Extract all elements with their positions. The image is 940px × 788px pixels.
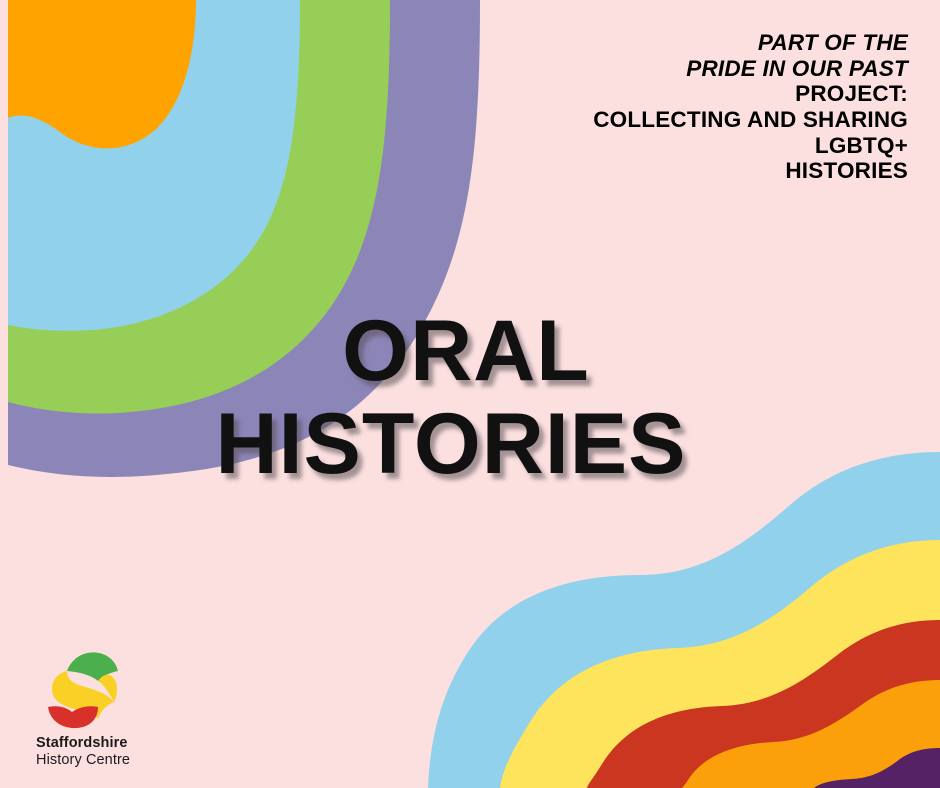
logo-block: Staffordshire History Centre	[36, 647, 216, 770]
logo-line-history-centre: History Centre	[36, 752, 216, 770]
header-line-2: PRIDE IN OUR PAST	[438, 56, 908, 82]
logo-red-arc	[48, 706, 98, 728]
logo-wordmark: Staffordshire History Centre	[36, 735, 216, 770]
header-line-4: COLLECTING AND SHARING	[438, 107, 908, 133]
header-line-1: PART OF THE	[438, 30, 908, 56]
header-line-6: HISTORIES	[438, 158, 908, 184]
header-line-3: PROJECT:	[438, 81, 908, 107]
staffordshire-s-logo-icon	[46, 647, 120, 731]
poster-canvas: PART OF THE PRIDE IN OUR PAST PROJECT: C…	[0, 0, 940, 788]
header-text-block: PART OF THE PRIDE IN OUR PAST PROJECT: C…	[438, 30, 908, 184]
logo-line-staffordshire: Staffordshire	[36, 735, 216, 753]
header-line-5: LGBTQ+	[438, 133, 908, 159]
